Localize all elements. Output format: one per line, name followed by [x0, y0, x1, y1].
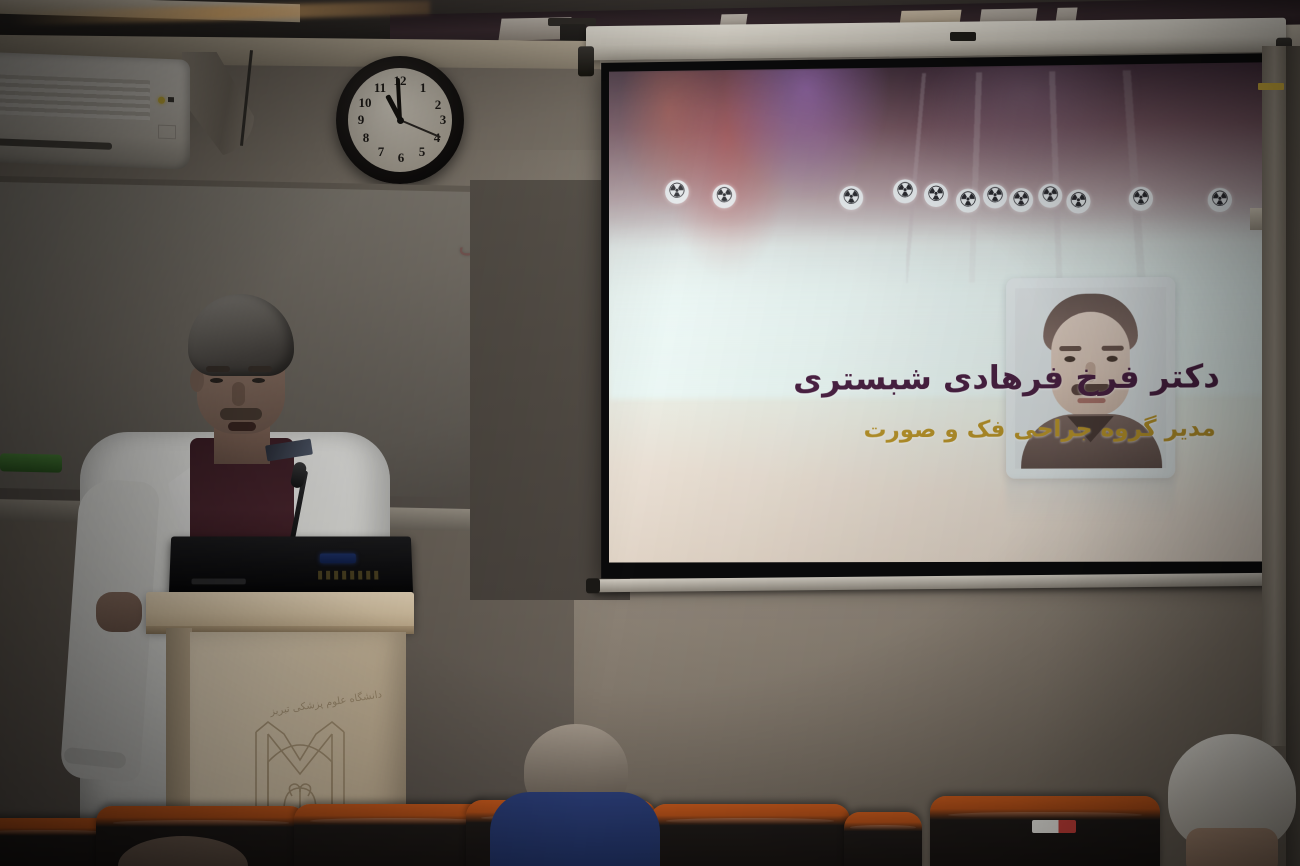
portrait-eyebrow	[1102, 346, 1124, 351]
clock-numeral: 8	[357, 131, 375, 145]
panel-display	[320, 554, 356, 564]
screen-surface: دکتر فرخ فرهادی شبستری مدیر گروه جراحی ف…	[609, 62, 1267, 562]
panel-slot	[191, 579, 245, 585]
auditorium-seat[interactable]	[294, 804, 494, 866]
ac-sensor	[168, 97, 174, 102]
yellow-marker-tag	[1258, 83, 1284, 90]
speaker-eye	[210, 378, 223, 383]
slide-speaker-role: مدیر گروه جراحی فک و صورت	[656, 416, 1216, 445]
wall-clock-icon: 12 1 2 3 4 5 6 7 8 9 10 11	[336, 56, 464, 184]
green-marker-icon	[0, 453, 62, 472]
clock-numeral: 6	[392, 151, 410, 165]
speaker-eyebrow	[206, 366, 230, 372]
speaker-hand	[96, 592, 142, 632]
slide-speaker-name: دکتر فرخ فرهادی شبستری	[660, 357, 1220, 399]
speaker-eyebrow	[248, 366, 272, 372]
panel-keys[interactable]	[318, 571, 380, 580]
presentation-slide: دکتر فرخ فرهادی شبستری مدیر گروه جراحی ف…	[609, 62, 1267, 562]
clock-numeral: 7	[372, 145, 390, 159]
speaker-eye	[252, 378, 265, 383]
seat-number-label	[1032, 820, 1076, 833]
clock-numeral: 3	[434, 113, 452, 127]
podium-control-panel[interactable]	[169, 536, 413, 596]
portrait-eyebrow	[1059, 346, 1081, 351]
air-conditioner-icon	[0, 52, 190, 170]
audience-shirt	[490, 792, 660, 866]
clock-face: 12 1 2 3 4 5 6 7 8 9 10 11	[348, 68, 452, 172]
lecture-hall-scene: 12 1 2 3 4 5 6 7 8 9 10 11 حوالثانی	[0, 0, 1300, 866]
podium-top-surface	[146, 592, 414, 630]
radiation-trefoil-icon	[1038, 184, 1062, 208]
auditorium-seat[interactable]	[650, 804, 850, 866]
ac-power-led	[158, 97, 165, 104]
portrait-lips	[1077, 398, 1105, 403]
radiation-trefoil-icon	[1129, 187, 1153, 211]
ac-vent-slot	[0, 138, 112, 150]
radiation-trefoil-icon	[839, 186, 863, 210]
right-pillar-edge	[1286, 46, 1300, 866]
ac-grille	[0, 74, 150, 120]
clock-numeral: 10	[356, 96, 374, 110]
clock-center-pin	[397, 117, 404, 124]
radiation-trefoil-icon	[983, 184, 1007, 208]
clock-numeral: 9	[352, 113, 370, 127]
auditorium-seat[interactable]	[844, 812, 922, 866]
radiation-trefoil-icon	[1009, 188, 1033, 212]
clock-numeral: 11	[371, 81, 389, 95]
radiation-trefoil-icon	[1066, 189, 1090, 213]
ac-badge	[158, 125, 176, 140]
audience-neck	[1186, 828, 1278, 866]
radiation-trefoil-icon	[956, 189, 980, 213]
speaker-mouth	[228, 422, 256, 431]
clock-numeral: 5	[413, 145, 431, 159]
speaker-moustache	[220, 408, 262, 420]
projection-screen: دکتر فرخ فرهادی شبستری مدیر گروه جراحی ف…	[601, 53, 1277, 578]
clock-numeral: 1	[414, 81, 432, 95]
clock-numeral: 2	[429, 98, 447, 112]
radiation-trefoil-icon	[665, 180, 689, 204]
roller-button[interactable]	[950, 32, 976, 41]
radiation-trefoil-icon	[1208, 188, 1232, 212]
speaker-hair	[188, 294, 294, 376]
radiation-trefoil-icon	[924, 183, 948, 207]
slide-portrait-reflection	[1006, 478, 1175, 523]
radiation-trefoil-icon	[893, 179, 917, 203]
speaker-nose	[232, 382, 245, 406]
radiation-trefoil-icon	[712, 184, 736, 208]
